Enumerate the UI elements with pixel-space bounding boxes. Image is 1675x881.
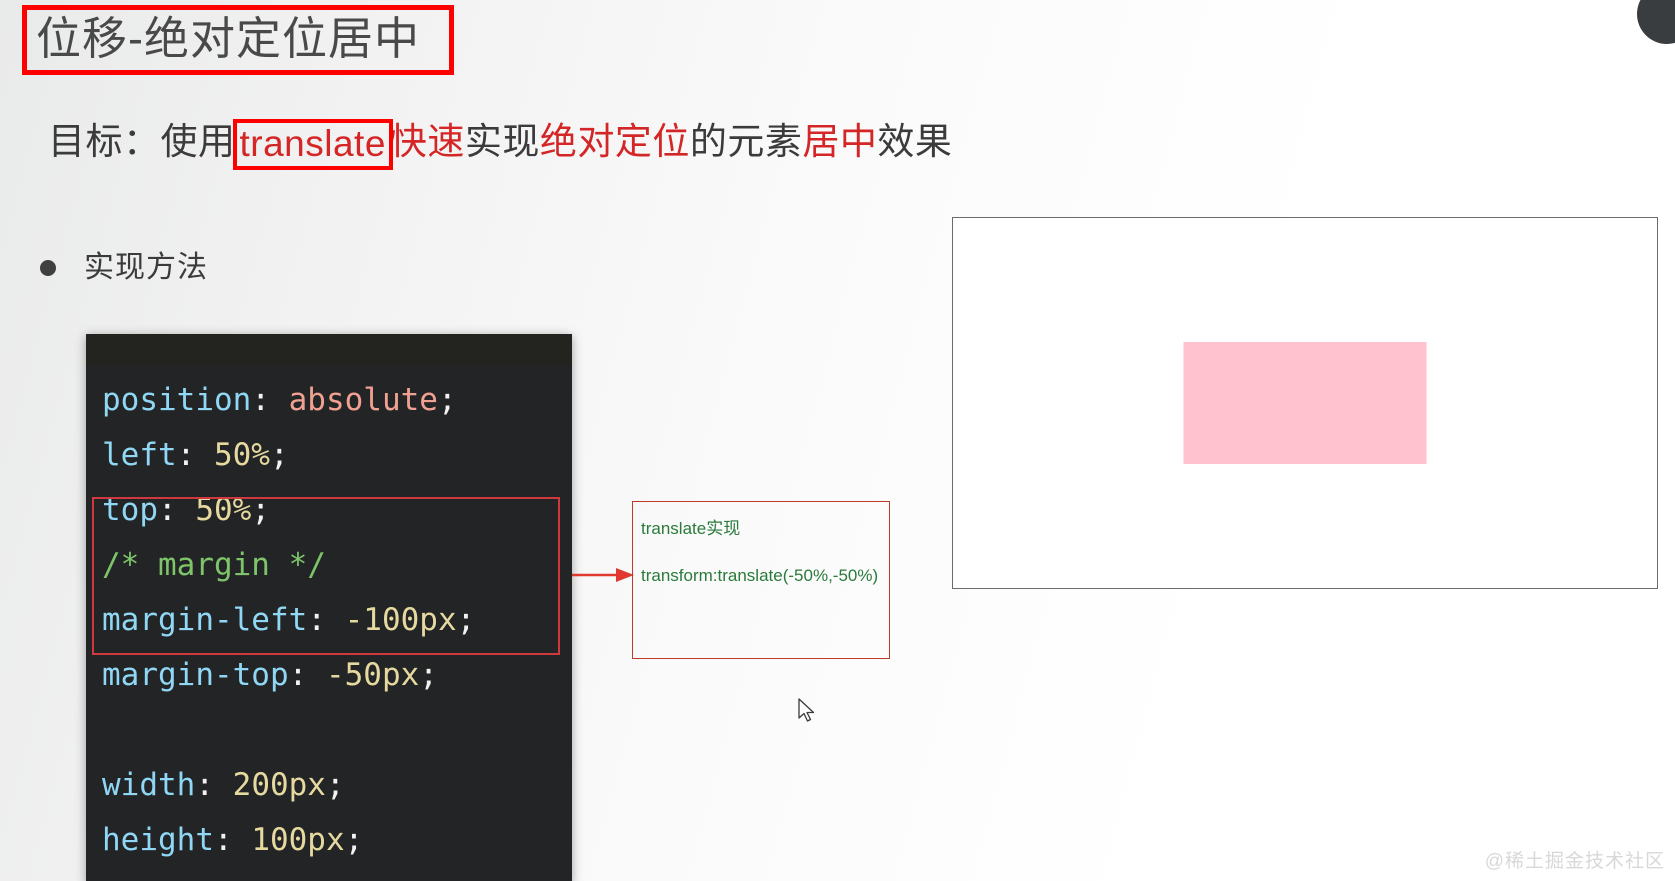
- code-token-semicolon: ;: [326, 767, 345, 803]
- demo-centered-box: [1184, 342, 1427, 464]
- code-token-punctuation: :: [289, 657, 326, 693]
- code-token-value: 50%: [214, 437, 270, 473]
- subtitle-red-3: 居中: [802, 121, 877, 162]
- subtitle-keyword-translate: translate: [233, 119, 393, 170]
- subtitle-dark-2: 的元素: [690, 121, 803, 162]
- code-token-value: 200px: [233, 767, 326, 803]
- code-line: top: 50%;: [102, 483, 572, 538]
- code-token-semicolon: ;: [457, 602, 476, 638]
- code-token-punctuation: :: [177, 437, 214, 473]
- code-token-punctuation: :: [307, 602, 344, 638]
- watermark: @稀土掘金技术社区: [1485, 846, 1665, 873]
- code-token-semicolon: ;: [419, 657, 438, 693]
- subtitle-dark-1: 实现: [465, 121, 540, 162]
- code-token-value: -50px: [326, 657, 419, 693]
- code-token-semicolon: ;: [251, 492, 270, 528]
- code-token-property: left: [102, 437, 177, 473]
- code-line: left: 50%;: [102, 428, 572, 483]
- code-token-punctuation: :: [195, 767, 232, 803]
- callout-box: translate实现 transform:translate(-50%,-50…: [632, 501, 890, 659]
- code-line: margin-top: -50px;: [102, 648, 572, 703]
- code-block: position: absolute;left: 50%;top: 50%;/*…: [86, 365, 572, 881]
- code-line: height: 100px;: [102, 813, 572, 868]
- subtitle-red-2: 绝对定位: [540, 121, 690, 162]
- bullet-dot-icon: [40, 260, 56, 276]
- code-token-property: height: [102, 822, 214, 858]
- code-token-punctuation: :: [251, 382, 288, 418]
- code-token-semicolon: ;: [270, 437, 289, 473]
- slide-canvas: 位移-绝对定位居中 目标：使用translate快速实现绝对定位的元素居中效果 …: [0, 0, 1675, 881]
- code-token-semicolon: ;: [438, 382, 457, 418]
- code-token-punctuation: :: [214, 822, 251, 858]
- code-token-property: position: [102, 382, 251, 418]
- code-token-property: width: [102, 767, 195, 803]
- page-title: 位移-绝对定位居中: [36, 10, 420, 68]
- code-token-value: 50%: [195, 492, 251, 528]
- code-token-value: -100px: [345, 602, 457, 638]
- code-token-property: top: [102, 492, 158, 528]
- subtitle-red-1: 快速: [390, 121, 465, 162]
- bullet-item: 实现方法: [40, 248, 208, 288]
- code-line: [102, 703, 572, 758]
- code-token-punctuation: :: [158, 492, 195, 528]
- code-token-value: 100px: [251, 822, 344, 858]
- code-token-comment: /* margin */: [102, 547, 326, 583]
- callout-line-code: transform:translate(-50%,-50%): [641, 565, 889, 586]
- code-line: width: 200px;: [102, 758, 572, 813]
- subtitle-dark-3: 效果: [877, 121, 952, 162]
- code-line: margin-left: -100px;: [102, 593, 572, 648]
- bullet-item-label: 实现方法: [84, 248, 208, 288]
- code-token-keyword: absolute: [289, 382, 438, 418]
- mouse-cursor-icon: [798, 698, 816, 724]
- subtitle-prefix: 目标：使用: [48, 121, 236, 162]
- code-token-property: margin-top: [102, 657, 289, 693]
- code-line: /* margin */: [102, 538, 572, 593]
- code-line: position: absolute;: [102, 373, 572, 428]
- callout-line-title: translate实现: [641, 518, 889, 539]
- subtitle-line: 目标：使用translate快速实现绝对定位的元素居中效果: [48, 113, 952, 171]
- demo-preview-pane: [952, 217, 1658, 589]
- code-token-property: margin-left: [102, 602, 307, 638]
- red-arrow-icon: [572, 565, 634, 585]
- code-token-semicolon: ;: [345, 822, 364, 858]
